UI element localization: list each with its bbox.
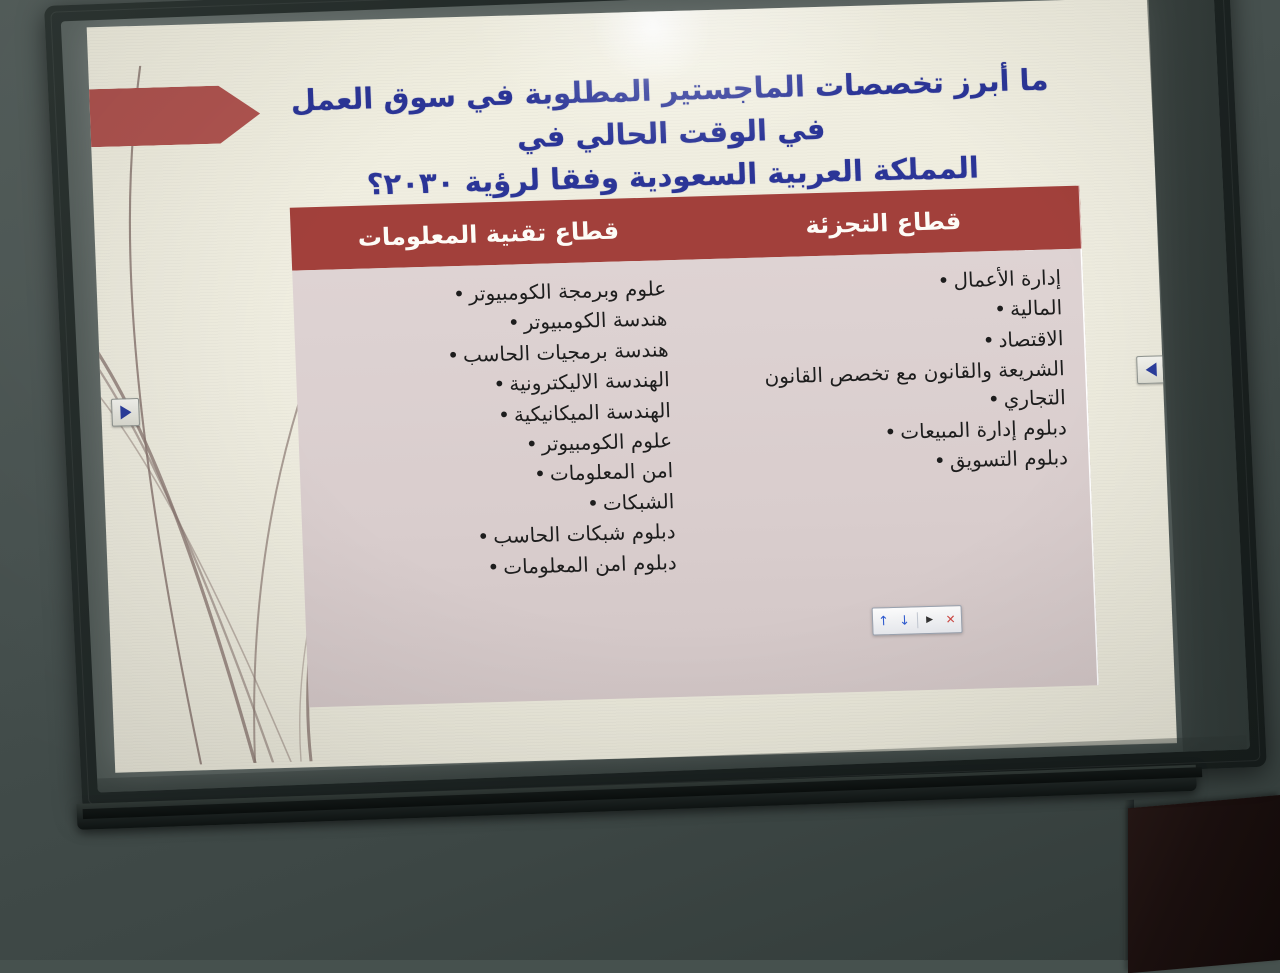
projected-slide-area: ما أبرز تخصصات الماجستير المطلوبة في سوق… xyxy=(87,0,1177,773)
column-header-retail: قطاع التجزئة xyxy=(685,186,1082,260)
previous-slide-arrow-icon[interactable]: ↑ xyxy=(874,612,893,630)
it-specializations-list: علوم وبرمجة الكومبيوتر هندسة الكومبيوتر … xyxy=(315,274,677,585)
column-header-it: قطاع تقنية المعلومات xyxy=(290,197,687,271)
whiteboard-surface: ما أبرز تخصصات الماجستير المطلوبة في سوق… xyxy=(61,0,1250,793)
retail-specializations-list: إدارة الأعمال المالية الاقتصاد الشريعة و… xyxy=(710,263,1069,481)
presentation-slide: ما أبرز تخصصات الماجستير المطلوبة في سوق… xyxy=(87,0,1177,773)
pointer-menu-icon[interactable]: ▶ xyxy=(920,611,939,629)
slide-prev-button[interactable] xyxy=(1136,355,1165,384)
triangle-right-icon xyxy=(120,405,132,419)
column-cell-it: علوم وبرمجة الكومبيوتر هندسة الكومبيوتر … xyxy=(292,260,704,708)
slide-title: ما أبرز تخصصات الماجستير المطلوبة في سوق… xyxy=(269,58,1074,209)
triangle-left-icon xyxy=(1145,363,1157,377)
whiteboard: ما أبرز تخصصات الماجستير المطلوبة في سوق… xyxy=(44,0,1267,811)
red-arrow-banner xyxy=(87,85,262,148)
slide-next-button[interactable] xyxy=(111,398,140,427)
next-slide-arrow-icon[interactable]: ↓ xyxy=(895,611,914,629)
list-item: الشريعة والقانون مع تخصص القانون التجاري xyxy=(713,354,1066,421)
toolbar-divider xyxy=(916,612,918,628)
close-icon[interactable]: ✕ xyxy=(941,610,960,628)
table-body-row: إدارة الأعمال المالية الاقتصاد الشريعة و… xyxy=(292,249,1099,708)
specializations-table: قطاع التجزئة قطاع تقنية المعلومات إدارة … xyxy=(290,186,1099,708)
wooden-cabinet xyxy=(1128,795,1280,973)
presentation-toolbar[interactable]: ↑ ↓ ▶ ✕ xyxy=(872,605,963,635)
